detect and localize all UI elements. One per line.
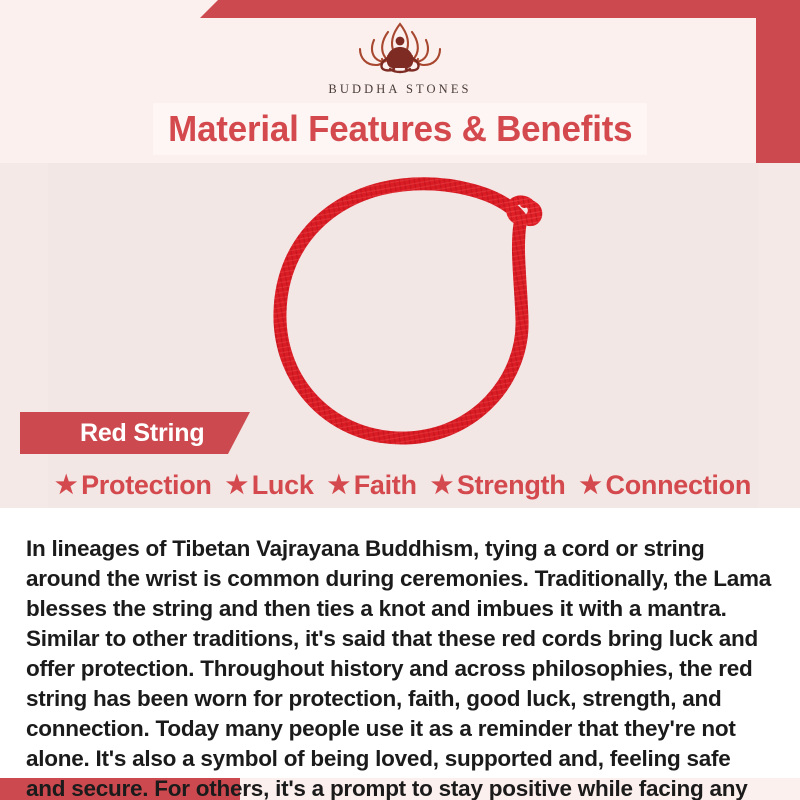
benefit-label: Faith [354, 470, 417, 501]
page-title: Material Features & Benefits [168, 108, 632, 150]
benefit-label: Protection [81, 470, 212, 501]
star-icon: ★ [55, 473, 77, 498]
poster-root: BUDDHA STONES Material Features & Benefi… [0, 0, 800, 800]
star-icon: ★ [328, 473, 350, 498]
star-icon: ★ [431, 473, 453, 498]
benefit-item-connection: ★ Connection [574, 470, 756, 501]
braided-bracelet-illustration [252, 172, 572, 452]
benefit-label: Luck [252, 470, 314, 501]
product-label-ribbon: Red String [20, 412, 250, 454]
product-label-text: Red String [20, 419, 204, 448]
star-icon: ★ [579, 473, 601, 498]
benefit-label: Connection [606, 470, 752, 501]
benefits-row: ★ Protection ★ Luck ★ Faith ★ Strength ★… [48, 464, 758, 506]
benefit-label: Strength [457, 470, 566, 501]
product-image-red-string-bracelet [252, 172, 572, 452]
decor-top-red-bar [200, 0, 800, 18]
brand-logo: BUDDHA STONES [0, 18, 800, 104]
benefit-item-luck: ★ Luck [221, 470, 319, 501]
star-icon: ★ [226, 473, 248, 498]
benefit-item-strength: ★ Strength [426, 470, 571, 501]
lotus-meditation-icon [330, 18, 470, 80]
description-text: In lineages of Tibetan Vajrayana Buddhis… [26, 534, 774, 800]
brand-wordmark: BUDDHA STONES [328, 82, 471, 97]
benefit-item-faith: ★ Faith [323, 470, 422, 501]
benefit-item-protection: ★ Protection [50, 470, 217, 501]
title-banner: Material Features & Benefits [153, 103, 647, 155]
